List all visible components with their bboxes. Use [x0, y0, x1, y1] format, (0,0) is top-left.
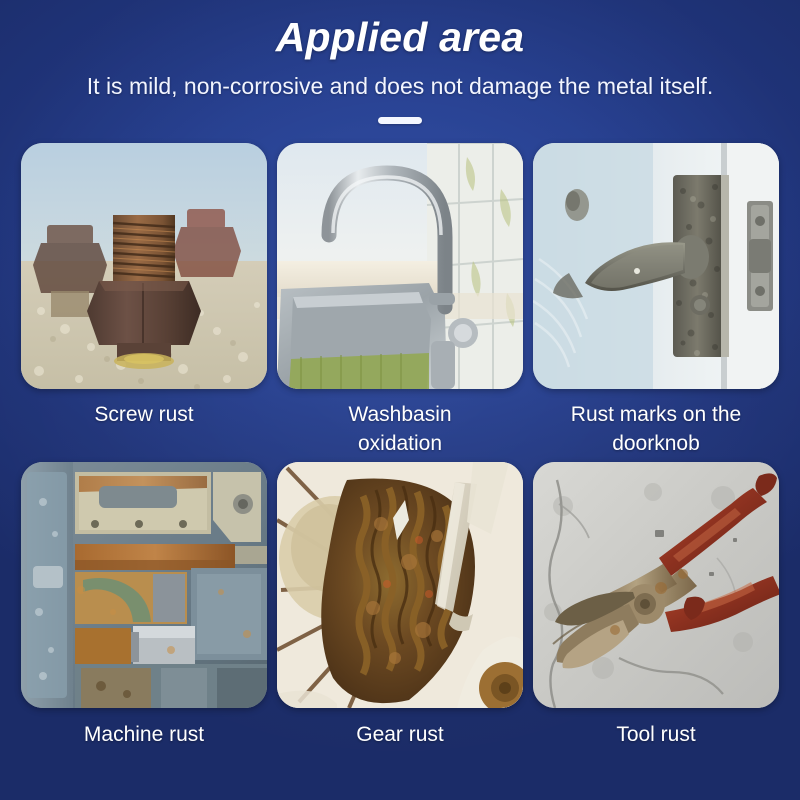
card-caption: Tool rust	[536, 720, 776, 749]
card-tool-rust[interactable]: Tool rust	[532, 462, 780, 749]
card-doorknob-rust[interactable]: Rust marks on the doorknob	[532, 143, 780, 458]
applied-area-grid: Screw rust	[20, 143, 780, 749]
card-machine-rust[interactable]: Machine rust	[20, 462, 268, 749]
divider-wrap	[0, 115, 800, 125]
poster-header: Applied area It is mild, non-corrosive a…	[0, 0, 800, 125]
rusty-bolts-photo	[21, 143, 267, 389]
bicycle-gear-photo	[277, 462, 523, 708]
page-title: Applied area	[0, 12, 800, 62]
card-caption: Rust marks on the doorknob	[536, 400, 776, 458]
pliers-photo	[533, 462, 779, 708]
divider-bar	[378, 117, 422, 124]
applied-area-poster: Applied area It is mild, non-corrosive a…	[0, 0, 800, 800]
door-handle-photo	[533, 143, 779, 389]
card-gear-rust[interactable]: Gear rust	[276, 462, 524, 749]
card-screw-rust[interactable]: Screw rust	[20, 143, 268, 458]
card-caption: Screw rust	[24, 400, 264, 429]
card-caption: Machine rust	[24, 720, 264, 749]
card-caption: Gear rust	[280, 720, 520, 749]
card-caption: Washbasin oxidation	[280, 400, 520, 458]
machinery-photo	[21, 462, 267, 708]
card-washbasin-oxidation[interactable]: Washbasin oxidation	[276, 143, 524, 458]
page-subtitle: It is mild, non-corrosive and does not d…	[0, 71, 800, 101]
sink-faucet-photo	[277, 143, 523, 389]
